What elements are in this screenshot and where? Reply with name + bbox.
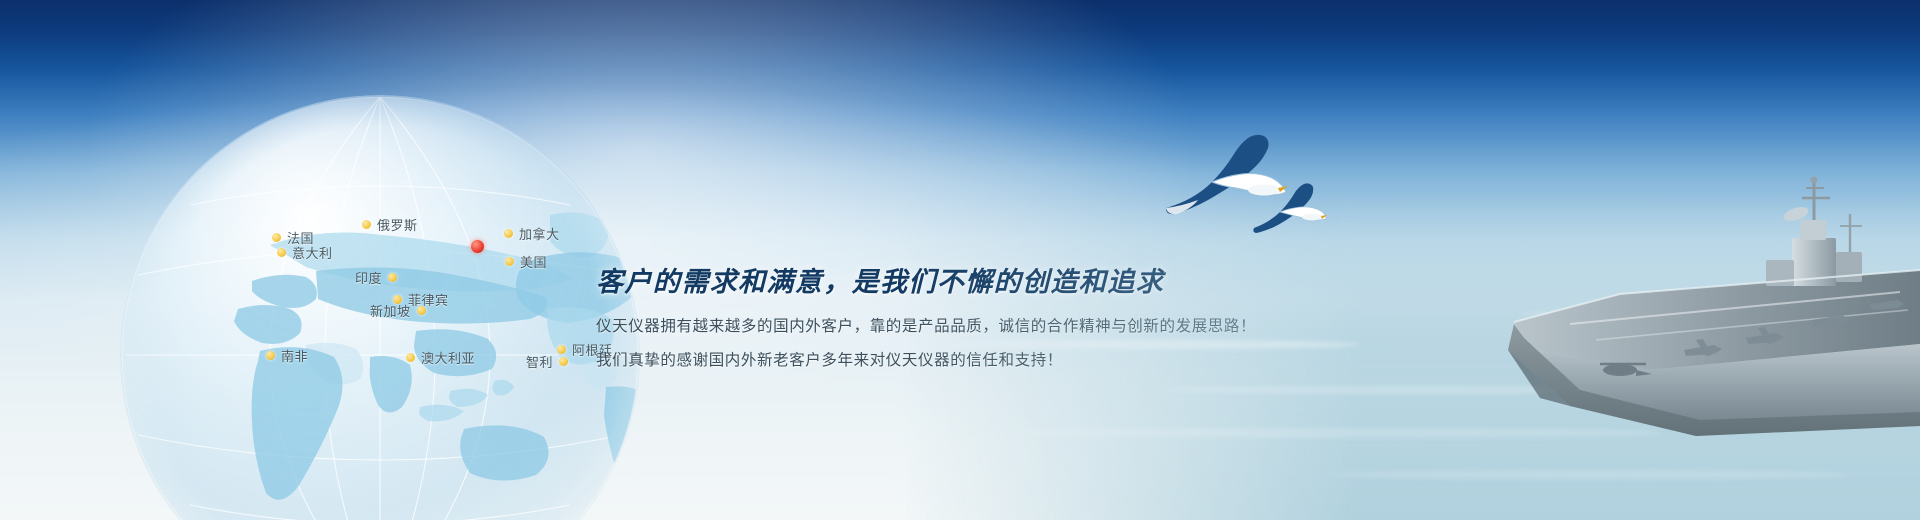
map-marker-label: 意大利 — [292, 243, 333, 262]
marker-dot-red-icon — [471, 240, 484, 253]
map-marker-label: 印度 — [355, 268, 382, 287]
seagull-small-icon — [1250, 180, 1328, 238]
map-marker-label: 智利 — [526, 352, 553, 371]
marker-dot-icon — [266, 351, 275, 360]
map-marker-label: 新加坡 — [370, 301, 411, 320]
map-marker-新加坡: 新加坡 — [370, 301, 426, 320]
map-marker-label: 俄罗斯 — [377, 215, 418, 234]
map-marker-澳大利亚: 澳大利亚 — [406, 348, 475, 367]
marker-dot-icon — [406, 353, 415, 362]
marker-dot-icon — [504, 229, 513, 238]
marker-dot-icon — [362, 220, 371, 229]
marker-dot-icon — [272, 233, 281, 242]
map-marker-label: 美国 — [520, 252, 547, 271]
map-marker-label: 南非 — [281, 346, 308, 365]
marker-dot-icon — [505, 257, 514, 266]
ship-island-tower — [1766, 177, 1862, 286]
aircraft-carrier-image — [1500, 174, 1920, 474]
marker-dot-icon — [557, 345, 566, 354]
marker-dot-icon — [388, 273, 397, 282]
map-marker-意大利: 意大利 — [277, 243, 333, 262]
marker-dot-icon — [277, 248, 286, 257]
hero-banner: 法国意大利俄罗斯加拿大美国印度菲律宾新加坡南非澳大利亚智利阿根廷 客户的需求和满… — [0, 0, 1920, 520]
map-marker-label: 加拿大 — [519, 224, 560, 243]
marker-dot-icon — [417, 306, 426, 315]
map-marker-加拿大: 加拿大 — [504, 224, 560, 243]
map-marker-highlight — [471, 240, 484, 253]
map-marker-印度: 印度 — [355, 268, 397, 287]
map-marker-美国: 美国 — [505, 252, 547, 271]
map-marker-南非: 南非 — [266, 346, 308, 365]
map-marker-俄罗斯: 俄罗斯 — [362, 215, 418, 234]
map-marker-label: 澳大利亚 — [421, 348, 475, 367]
